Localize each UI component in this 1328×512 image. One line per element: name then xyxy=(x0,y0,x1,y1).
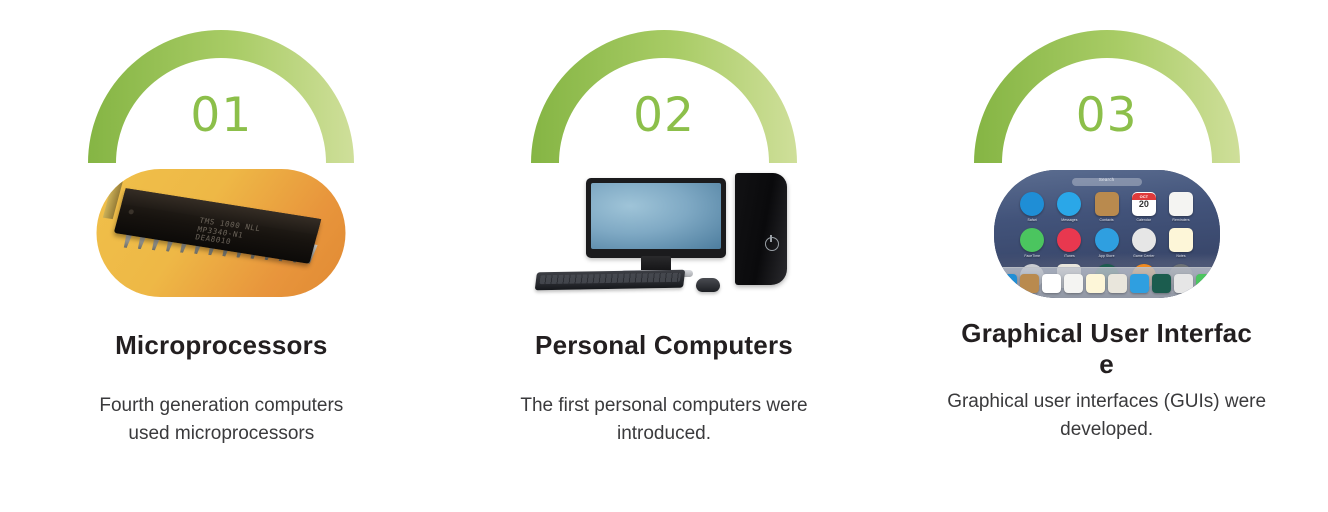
launchpad-app-label: iTunes xyxy=(1064,254,1075,258)
mouse-icon xyxy=(696,278,720,292)
reminders-icon xyxy=(1169,192,1193,216)
dock-item-game-center[interactable] xyxy=(1174,274,1193,293)
dock-item-notes[interactable] xyxy=(1086,274,1105,293)
tower-icon xyxy=(735,173,787,285)
launchpad-app-label: Messages xyxy=(1061,218,1077,222)
panel-heading-03-line2: e xyxy=(1099,349,1114,379)
dock-item-contacts[interactable] xyxy=(1020,274,1039,293)
infographic-board: 01 xyxy=(0,0,1328,512)
launchpad-app-label: App Store xyxy=(1099,254,1115,258)
panel-body-03: Graphical user interfaces (GUIs) were de… xyxy=(942,388,1272,444)
launchpad-app-facetime[interactable]: FaceTime xyxy=(1014,228,1051,258)
launchpad-app-label: Safari xyxy=(1028,218,1037,222)
calendar-icon: OCT20 xyxy=(1132,192,1156,216)
step-number-01: 01 xyxy=(190,92,252,139)
panel-heading-01: Microprocessors xyxy=(31,330,411,361)
notes-icon xyxy=(1169,228,1193,252)
launchpad-app-label: Game Center xyxy=(1133,254,1154,258)
safari-icon xyxy=(1020,192,1044,216)
launchpad-app-game-center[interactable]: Game Center xyxy=(1125,228,1162,258)
power-button-icon xyxy=(765,237,779,251)
launchpad-app-safari[interactable]: Safari xyxy=(1014,192,1051,222)
facetime-icon xyxy=(1020,228,1044,252)
launchpad-app-itunes[interactable]: iTunes xyxy=(1051,228,1088,258)
dock-item-app-store[interactable] xyxy=(1130,274,1149,293)
dock-item-reminders[interactable] xyxy=(1064,274,1083,293)
step-number-02: 02 xyxy=(633,92,695,139)
panel-02: 02 Personal Computers The first personal… xyxy=(443,0,886,512)
microprocessor-chip-photo: TMS 1000 NLLMP3340-N1DEA8010 xyxy=(97,169,346,297)
panel-heading-03: Graphical User Interfac e xyxy=(921,318,1293,380)
launchpad-search-placeholder: Search xyxy=(1072,177,1142,182)
keyboard-icon xyxy=(535,270,686,291)
launchpad-app-app-store[interactable]: App Store xyxy=(1088,228,1125,258)
dock-item-messages[interactable] xyxy=(1218,274,1220,293)
macos-launchpad-screenshot: Search SafariMessagesContactsOCT20Calend… xyxy=(994,170,1220,298)
launchpad-dock xyxy=(994,267,1220,298)
panel-03: 03 Search SafariMessagesContactsOCT20Cal… xyxy=(885,0,1328,512)
itunes-icon xyxy=(1057,228,1081,252)
contacts-icon xyxy=(1095,192,1119,216)
launchpad-app-label: Calendar xyxy=(1137,218,1152,222)
messages-icon xyxy=(1057,192,1081,216)
panel-heading-03-line1: Graphical User Interfac xyxy=(961,318,1252,348)
launchpad-app-calendar[interactable]: OCT20Calendar xyxy=(1125,192,1162,222)
panel-body-01: Fourth generation computers used micropr… xyxy=(91,392,351,448)
dock-item-maps[interactable] xyxy=(1108,274,1127,293)
game-center-icon xyxy=(1132,228,1156,252)
launchpad-app-reminders[interactable]: Reminders xyxy=(1162,192,1199,222)
launchpad-app-notes[interactable]: Notes xyxy=(1162,228,1199,258)
dock-item-facetime[interactable] xyxy=(1196,274,1215,293)
dock-item-finder[interactable] xyxy=(994,274,996,293)
launchpad-app-contacts[interactable]: Contacts xyxy=(1088,192,1125,222)
dock-item-calendar[interactable] xyxy=(1042,274,1061,293)
launchpad-search-field[interactable]: Search xyxy=(1072,178,1142,186)
launchpad-app-label: Reminders xyxy=(1172,218,1189,222)
panel-heading-02: Personal Computers xyxy=(474,330,854,361)
launchpad-app-label: FaceTime xyxy=(1024,254,1040,258)
app-store-icon xyxy=(1095,228,1119,252)
panel-01: 01 xyxy=(0,0,443,512)
step-number-03: 03 xyxy=(1076,92,1138,139)
monitor-icon xyxy=(586,178,726,258)
launchpad-app-label: Contacts xyxy=(1100,218,1114,222)
panel-body-02: The first personal computers were introd… xyxy=(489,392,839,448)
dock-item-safari[interactable] xyxy=(998,274,1017,293)
launchpad-app-label: Notes xyxy=(1176,254,1185,258)
launchpad-app-messages[interactable]: Messages xyxy=(1051,192,1088,222)
desktop-computer-photo xyxy=(529,168,799,300)
dock-item-timemachine[interactable] xyxy=(1152,274,1171,293)
